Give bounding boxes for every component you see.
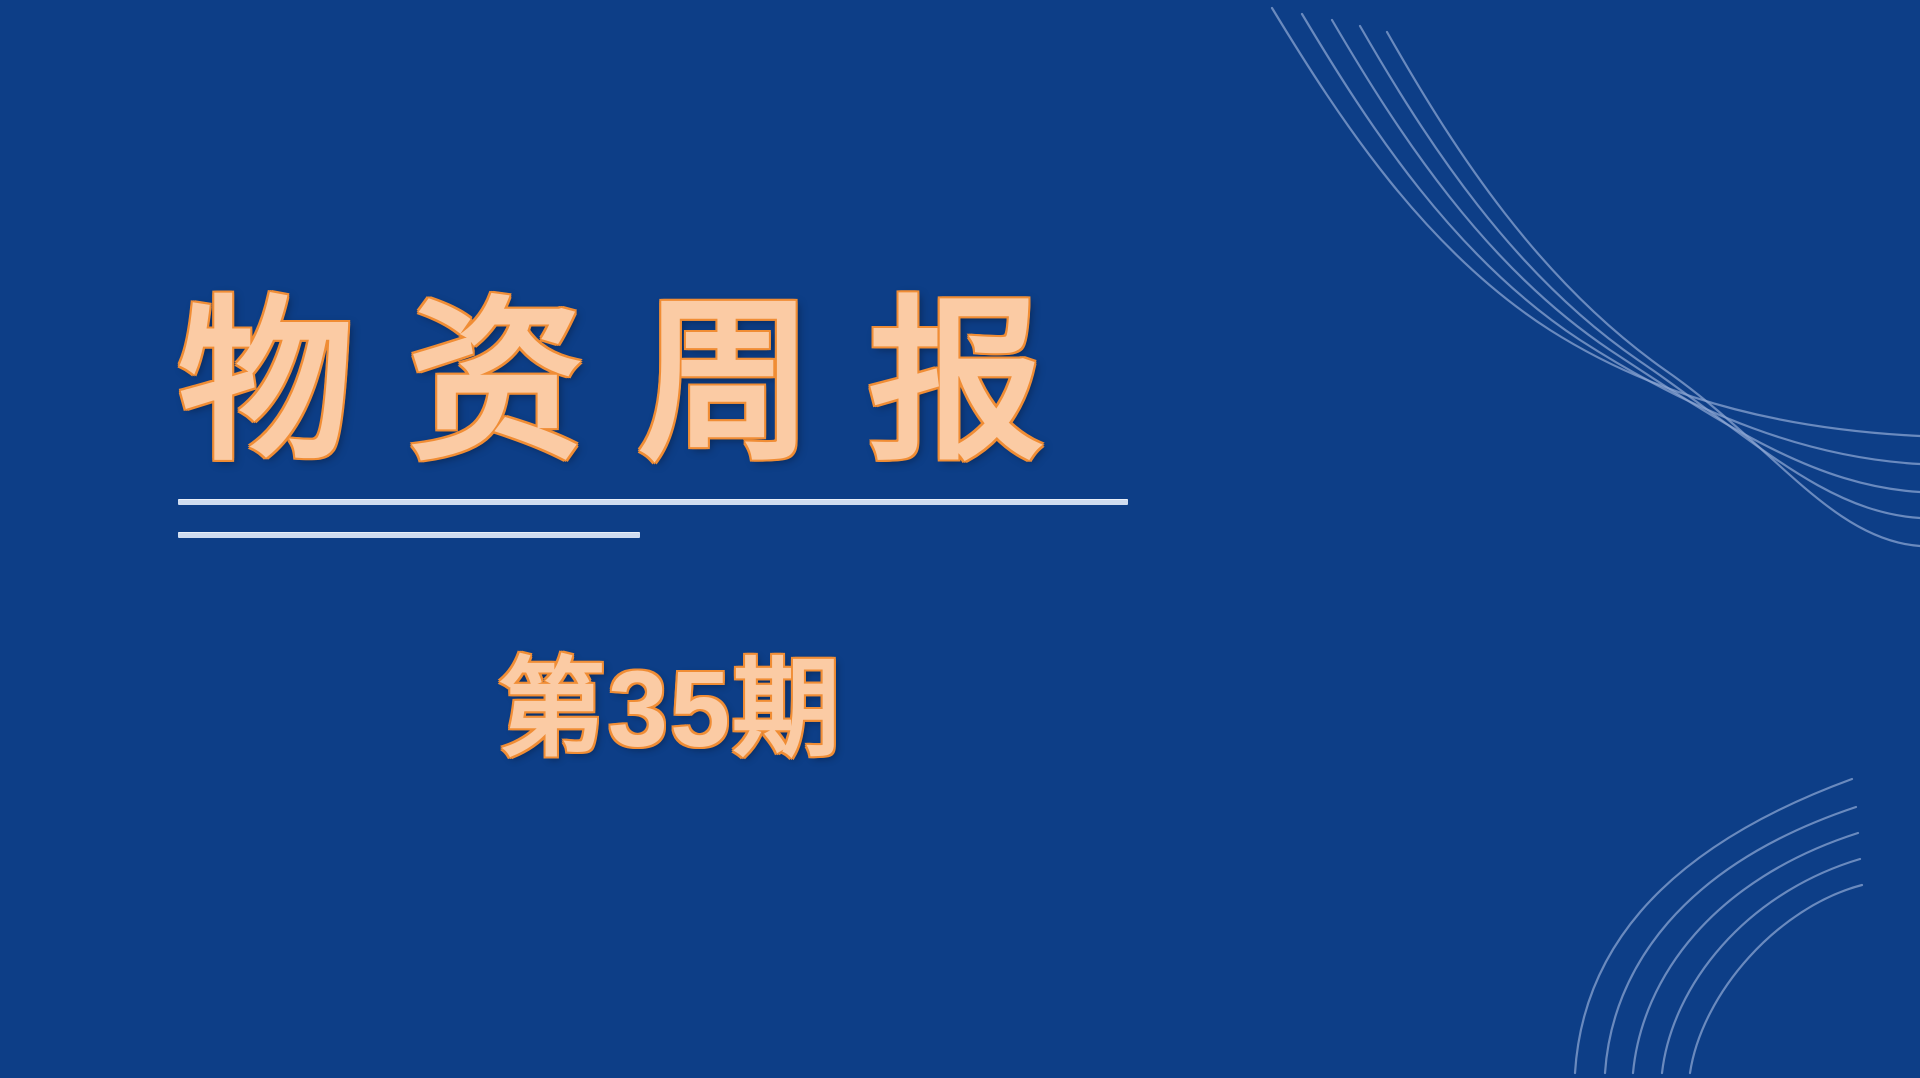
curved-ribbon-lines-top-right-icon	[1220, 0, 1920, 620]
page-title: 物资周报	[178, 290, 1178, 477]
title-dividers	[178, 499, 1178, 538]
title-block: 物资周报	[178, 290, 1178, 538]
cover-slide: 物资周报 第35期	[0, 0, 1920, 1078]
subtitle-block: 第35期	[178, 650, 1162, 769]
title-divider-short	[178, 532, 640, 538]
issue-number: 第35期	[498, 650, 842, 769]
title-divider-long	[178, 499, 1128, 505]
curved-arc-lines-bottom-right-icon	[1500, 733, 1920, 1078]
